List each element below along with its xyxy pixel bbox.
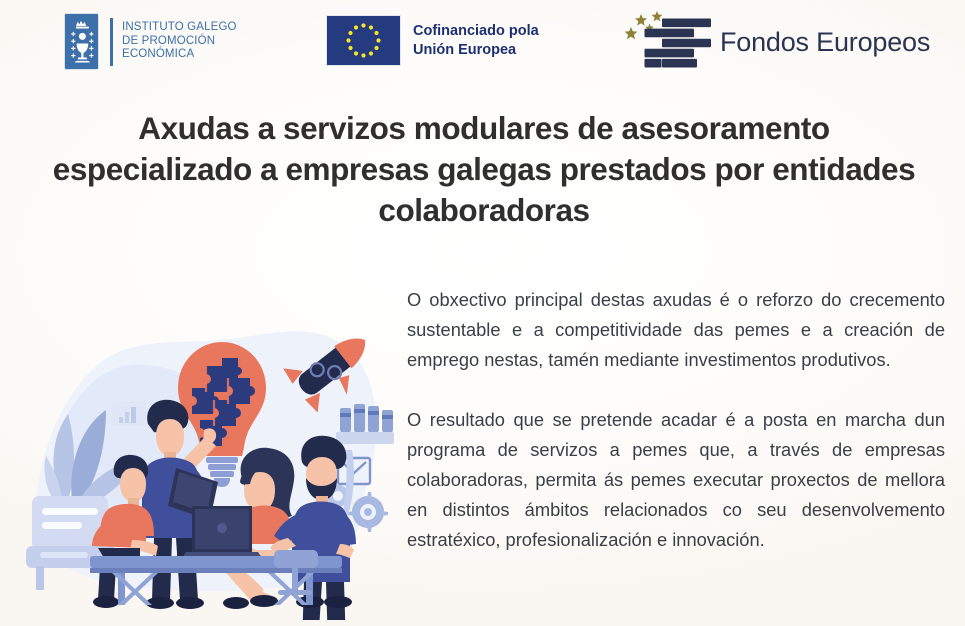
flyer-page: INSTITUTO GALEGO DE PROMOCIÓN ECONÓMICA [0, 0, 965, 626]
instituto-galego-de-promocion-economica-logo: INSTITUTO GALEGO DE PROMOCIÓN ECONÓMICA [64, 13, 237, 70]
igape-text-line-1: INSTITUTO GALEGO [122, 21, 237, 35]
eu-text-line-2: Unión Europea [413, 41, 539, 60]
shelf-with-binders-icon [336, 404, 394, 444]
eu-flag-icon [326, 15, 401, 66]
igape-text-line-2: DE PROMOCIÓN [122, 35, 237, 49]
paragraph-result: O resultado que se pretende acadar é a p… [407, 405, 945, 555]
fondos-europeos-mark-icon [618, 7, 714, 77]
team-brainstorming-illustration [6, 300, 396, 620]
eu-text-line-1: Cofinanciado pola [413, 22, 539, 41]
eu-logo-text: Cofinanciado pola Unión Europea [413, 22, 539, 60]
fondos-europeos-logo-text: Fondos Europeos [720, 27, 930, 57]
body-copy: O obxectivo principal destas axudas é o … [407, 285, 945, 555]
logo-bar: INSTITUTO GALEGO DE PROMOCIÓN ECONÓMICA [0, 0, 965, 92]
igape-logo-text: INSTITUTO GALEGO DE PROMOCIÓN ECONÓMICA [122, 21, 237, 62]
paragraph-objective: O obxectivo principal destas axudas é o … [407, 285, 945, 375]
eu-flag-stars-svg [327, 16, 400, 65]
illustration-svg [6, 300, 396, 620]
bar-chart-icon [112, 402, 146, 426]
logo-divider [110, 18, 113, 66]
page-title: Axudas a servizos modulares de asesorame… [44, 108, 924, 231]
chalice-emblem-svg [65, 14, 100, 71]
stepped-bars-stars-svg [618, 7, 714, 77]
fondos-europeos-logo: Fondos Europeos [618, 7, 930, 77]
european-union-cofinancing-logo: Cofinanciado pola Unión Europea [326, 15, 539, 66]
igape-text-line-3: ECONÓMICA [122, 48, 237, 62]
xunta-de-galicia-chalice-emblem [64, 13, 99, 70]
laptop-icon [182, 506, 262, 558]
